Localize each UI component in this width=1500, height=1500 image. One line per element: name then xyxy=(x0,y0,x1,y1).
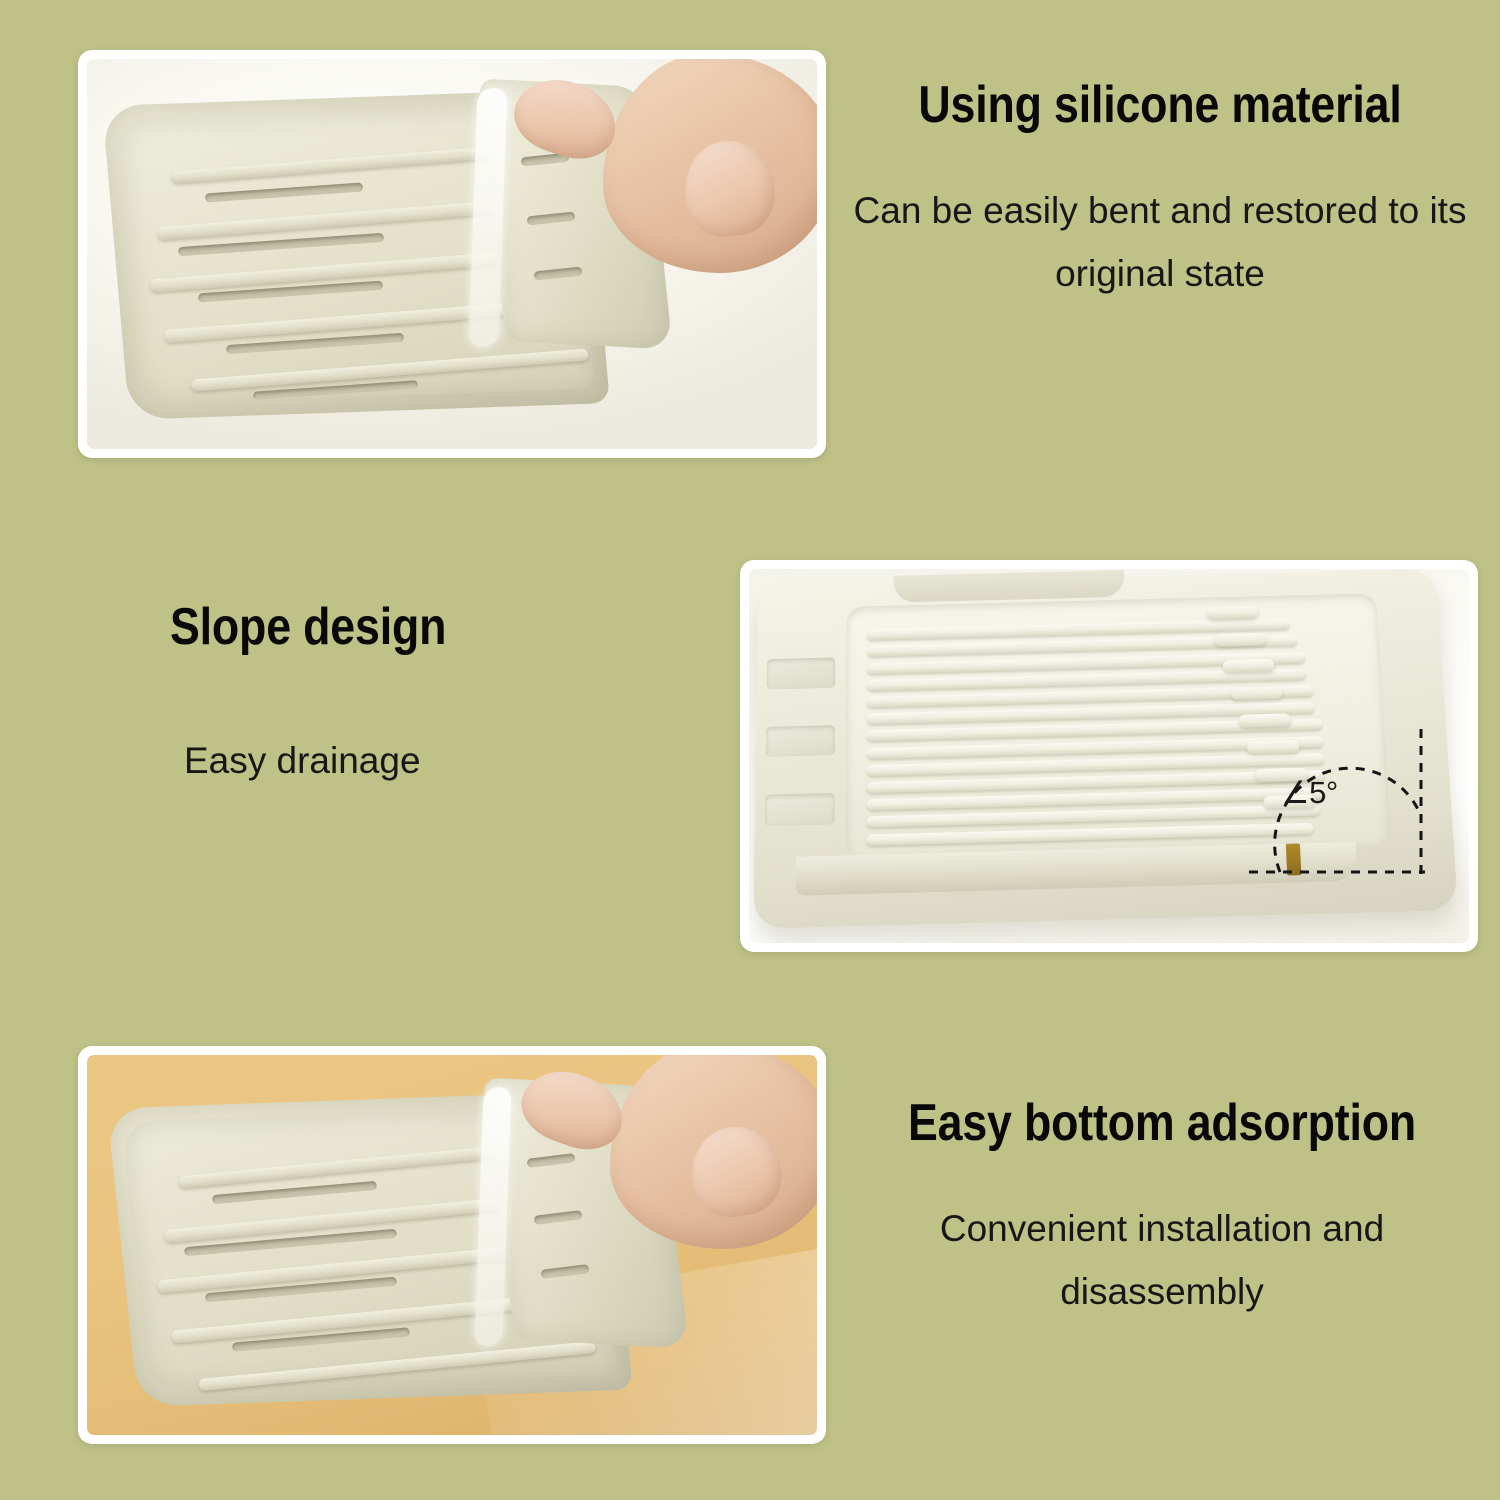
headline-slope-design: Slope design xyxy=(170,600,652,655)
subline-silicone-material: Can be easily bent and restored to its o… xyxy=(836,179,1484,306)
photo-card-slope-design: ∠5° xyxy=(740,560,1478,952)
slope-tray-body xyxy=(753,569,1458,929)
photo-inner-silicone-material xyxy=(87,59,817,449)
photo-inner-slope-design: ∠5° xyxy=(749,569,1469,943)
headline-silicone-material: Using silicone material xyxy=(881,78,1438,133)
photo-inner-bottom-adsorption xyxy=(87,1055,817,1435)
photo-card-bottom-adsorption xyxy=(78,1046,826,1444)
text-block-slope-design: Slope design Easy drainage xyxy=(170,600,730,792)
tray-mount-tab xyxy=(767,657,836,689)
slope-comb-tooth xyxy=(1215,632,1267,646)
subline-slope-design: Easy drainage xyxy=(170,729,730,793)
angle-label-5-degrees: ∠5° xyxy=(1282,775,1338,811)
tray-mount-tab xyxy=(766,724,835,757)
silicone-tray-illustration-bottom xyxy=(109,1070,795,1427)
text-block-bottom-adsorption: Easy bottom adsorption Convenient instal… xyxy=(838,1096,1486,1324)
slope-comb-tooth xyxy=(1207,606,1259,620)
text-block-silicone-material: Using silicone material Can be easily be… xyxy=(836,78,1484,306)
photo-card-silicone-material xyxy=(78,50,826,458)
tray-top-lip xyxy=(894,570,1125,602)
slope-comb-tooth xyxy=(1223,659,1275,673)
infographic-stage: Using silicone material Can be easily be… xyxy=(0,0,1500,1500)
silicone-tray-illustration xyxy=(109,75,795,442)
slope-comb-tooth xyxy=(1239,713,1291,727)
slope-comb-tooth xyxy=(1247,740,1300,754)
headline-bottom-adsorption: Easy bottom adsorption xyxy=(883,1096,1440,1151)
gold-foot-slot xyxy=(1286,843,1302,875)
slope-comb-tooth xyxy=(1231,686,1283,700)
subline-bottom-adsorption: Convenient installation and disassembly xyxy=(838,1197,1486,1324)
tray-mount-tab xyxy=(765,793,835,826)
